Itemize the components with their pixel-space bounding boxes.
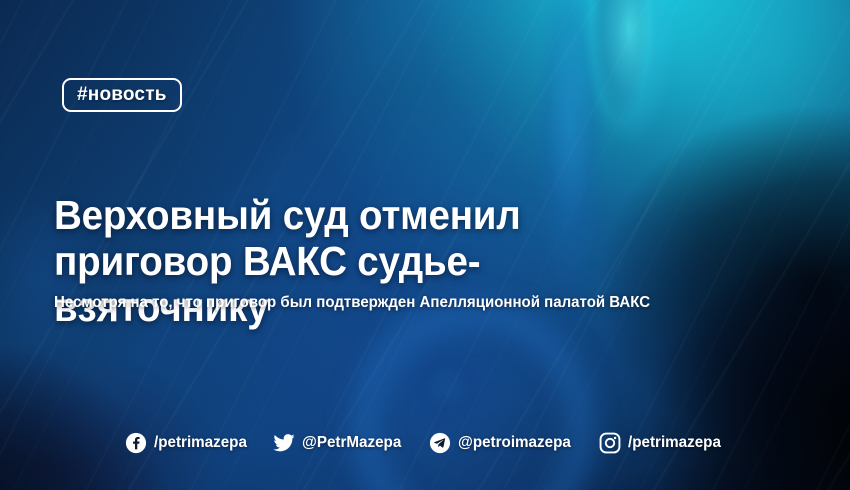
social-link-facebook[interactable]: /petrimazepa bbox=[125, 432, 252, 454]
social-handle-facebook: /petrimazepa bbox=[154, 435, 247, 451]
social-handle-twitter: @PetrMazepa bbox=[302, 435, 401, 451]
card-content: #новость Верховный суд отменил приговор … bbox=[0, 0, 850, 490]
page-subtitle: Несмотря на то, что приговор был подтвер… bbox=[54, 293, 712, 313]
instagram-icon bbox=[599, 432, 621, 454]
social-handle-instagram: /petrimazepa bbox=[628, 435, 721, 451]
social-handle-telegram: @petroimazepa bbox=[458, 435, 571, 451]
facebook-icon bbox=[125, 432, 147, 454]
category-tag-label: #новость bbox=[77, 84, 167, 106]
news-card: #новость Верховный суд отменил приговор … bbox=[0, 0, 850, 490]
category-tag-badge[interactable]: #новость bbox=[62, 78, 182, 112]
social-link-instagram[interactable]: /petrimazepa bbox=[599, 432, 726, 454]
social-links-bar: /petrimazepa @PetrMazepa @petroimaz bbox=[0, 432, 850, 454]
social-link-twitter[interactable]: @PetrMazepa bbox=[273, 432, 407, 454]
telegram-icon bbox=[429, 432, 451, 454]
social-link-telegram[interactable]: @petroimazepa bbox=[429, 432, 577, 454]
twitter-icon bbox=[273, 432, 295, 454]
